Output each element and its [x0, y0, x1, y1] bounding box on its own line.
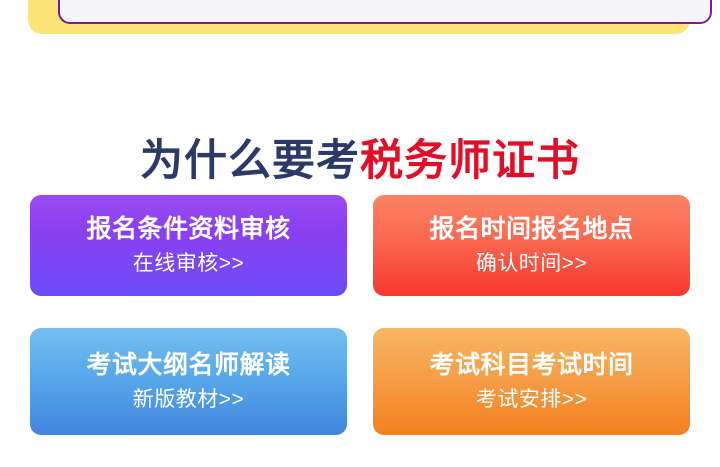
entry-card-grid: 报名条件资料审核 在线审核>> 报名时间报名地点 确认时间>> 考试大纲名师解读…: [30, 195, 690, 435]
entry-card-title: 报名条件资料审核: [86, 215, 290, 244]
entry-card-subtitle: 确认时间>>: [476, 251, 588, 276]
entry-card-title: 考试科目考试时间: [429, 351, 633, 380]
entry-card-registration-time-location[interactable]: 报名时间报名地点 确认时间>>: [373, 195, 690, 296]
entry-card-title: 报名时间报名地点: [429, 215, 633, 244]
page-title-accent: 税务师证书: [360, 137, 580, 185]
promo-banner-inner-panel: [58, 0, 712, 24]
entry-card-syllabus-interpretation[interactable]: 考试大纲名师解读 新版教材>>: [30, 328, 347, 435]
page-title: 为什么要考税务师证书: [0, 140, 720, 183]
entry-card-subtitle: 在线审核>>: [133, 251, 245, 276]
entry-card-title: 考试大纲名师解读: [86, 351, 290, 380]
page-title-primary: 为什么要考: [140, 137, 360, 185]
entry-card-subtitle: 新版教材>>: [133, 387, 245, 412]
entry-card-subtitle: 考试安排>>: [476, 387, 588, 412]
entry-card-exam-subjects-schedule[interactable]: 考试科目考试时间 考试安排>>: [373, 328, 690, 435]
entry-card-registration-requirements[interactable]: 报名条件资料审核 在线审核>>: [30, 195, 347, 296]
promo-banner: [28, 0, 690, 34]
